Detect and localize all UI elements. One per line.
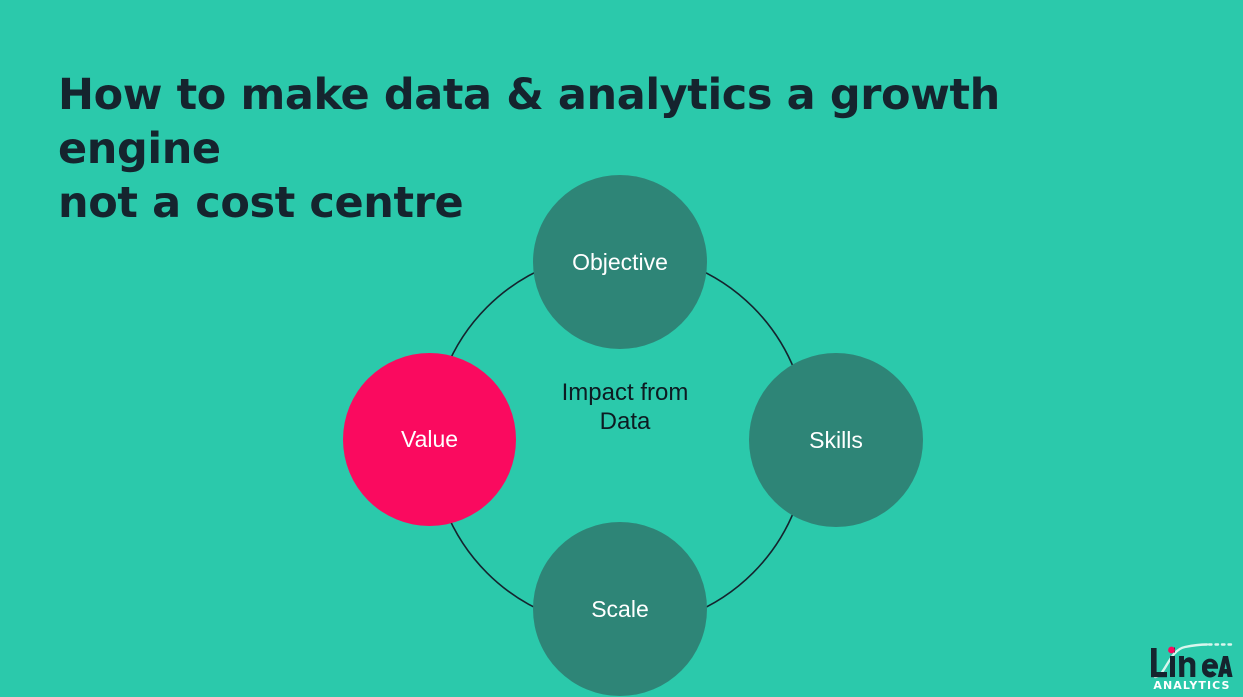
- linea-analytics-logo: ANALYTICS: [1145, 634, 1239, 692]
- node-value-label: Value: [401, 426, 458, 452]
- impact-from-data-diagram: Objective Skills Scale Value Impact from…: [0, 0, 1243, 697]
- diagram-center-label: Impact from Data: [500, 378, 750, 436]
- node-value[interactable]: Value: [343, 353, 516, 526]
- node-objective[interactable]: Objective: [533, 175, 707, 349]
- node-skills-label: Skills: [809, 427, 863, 453]
- node-scale[interactable]: Scale: [533, 522, 707, 696]
- node-objective-label: Objective: [572, 249, 668, 275]
- node-scale-label: Scale: [591, 596, 649, 622]
- node-skills[interactable]: Skills: [749, 353, 923, 527]
- logo-mark-icon: ANALYTICS: [1145, 634, 1239, 692]
- slide-canvas: How to make data & analytics a growth en…: [0, 0, 1243, 697]
- logo-subtitle-text: ANALYTICS: [1153, 679, 1230, 692]
